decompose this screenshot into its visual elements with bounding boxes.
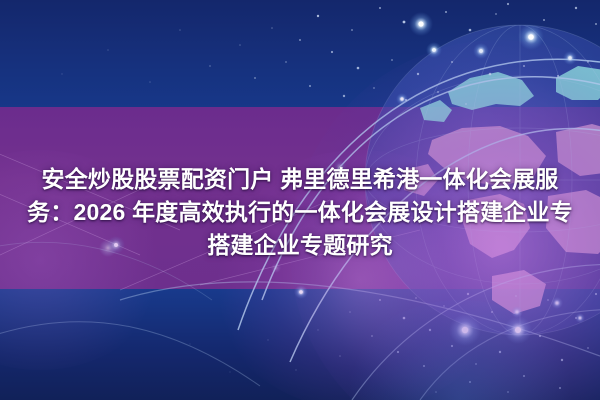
background-band-top: [0, 0, 600, 107]
headline-line-2: 务：2026 年度高效执行的一体化会展设计搭建企业专: [0, 196, 600, 229]
headline-line-3: 搭建企业专题研究: [0, 229, 600, 262]
headline-line-1: 安全炒股股票配资门户 弗里德里希港一体化会展服: [0, 163, 600, 196]
banner-image: 安全炒股股票配资门户 弗里德里希港一体化会展服 务：2026 年度高效执行的一体…: [0, 0, 600, 400]
banner-headline: 安全炒股股票配资门户 弗里德里希港一体化会展服 务：2026 年度高效执行的一体…: [0, 163, 600, 262]
background-band-bottom: [0, 289, 600, 400]
